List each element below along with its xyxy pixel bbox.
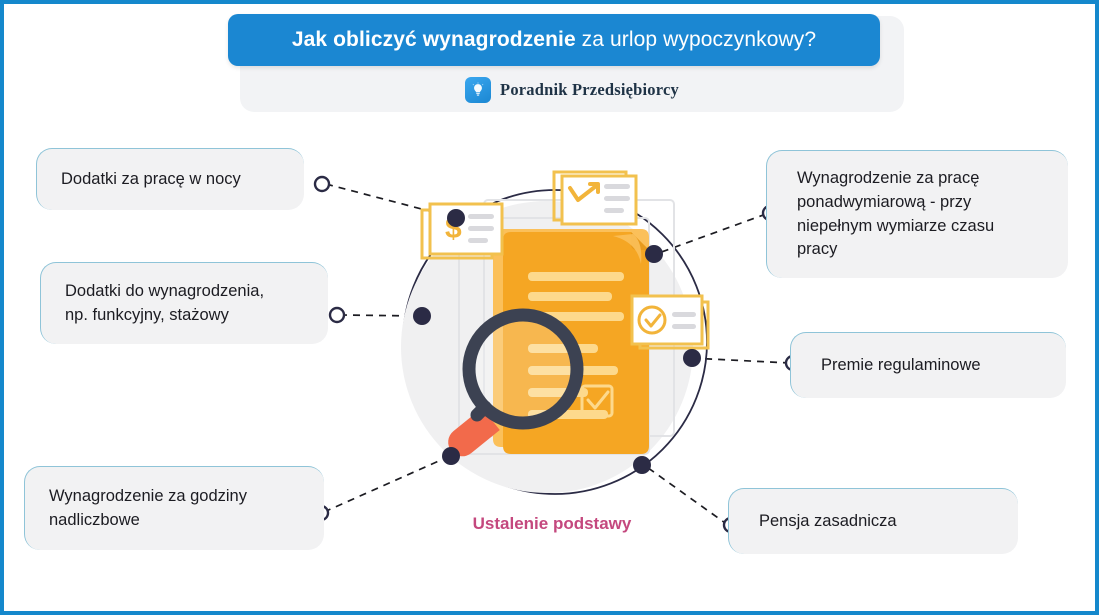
growth-card bbox=[554, 172, 636, 224]
center-caption: Ustalenie podstawy bbox=[402, 514, 702, 534]
connector-line-ponad bbox=[656, 214, 766, 254]
card-text-line: nadliczbowe bbox=[49, 509, 247, 533]
card-text-line: Dodatki do wynagrodzenia, bbox=[65, 280, 264, 304]
node-left bbox=[413, 307, 431, 325]
card-text: Premie regulaminowe bbox=[791, 354, 995, 378]
endpoint-noc bbox=[315, 177, 329, 191]
infographic-page: Jak obliczyć wynagrodzenie za urlop wypo… bbox=[0, 0, 1099, 615]
card-dodatki-do-wynagrodzenia[interactable]: Dodatki do wynagrodzenia, np. funkcyjny,… bbox=[40, 262, 328, 344]
card-text-line: Wynagrodzenie za godziny bbox=[49, 485, 247, 509]
card-godziny-nadliczbowe[interactable]: Wynagrodzenie za godziny nadliczbowe bbox=[24, 466, 324, 550]
connector-line-nadliczbowe bbox=[324, 456, 450, 512]
card-text: Wynagrodzenie za pracę ponadwymiarową - … bbox=[767, 167, 1008, 263]
card-text: Wynagrodzenie za godziny nadliczbowe bbox=[25, 485, 263, 533]
card-text-line: Wynagrodzenie za pracę bbox=[797, 167, 994, 191]
card-dodatki-za-prace-w-nocy[interactable]: Dodatki za pracę w nocy bbox=[36, 148, 304, 210]
node-top-right bbox=[645, 245, 663, 263]
card-text-line: pracy bbox=[797, 238, 994, 262]
node-top-left bbox=[447, 209, 465, 227]
endpoint-dodatki bbox=[330, 308, 344, 322]
node-right bbox=[683, 349, 701, 367]
card-text: Pensja zasadnicza bbox=[729, 510, 911, 534]
card-text: Dodatki za pracę w nocy bbox=[37, 168, 257, 192]
card-text-line: ponadwymiarową - przy bbox=[797, 191, 994, 215]
card-text-line: np. funkcyjny, stażowy bbox=[65, 304, 264, 328]
card-praca-ponadwymiarowa[interactable]: Wynagrodzenie za pracę ponadwymiarową - … bbox=[766, 150, 1068, 278]
node-bottom-left bbox=[442, 447, 460, 465]
card-text-line: niepełnym wymiarze czasu bbox=[797, 215, 994, 239]
card-text: Dodatki do wynagrodzenia, np. funkcyjny,… bbox=[41, 280, 280, 328]
card-pensja-zasadnicza[interactable]: Pensja zasadnicza bbox=[728, 488, 1018, 554]
check-card bbox=[632, 296, 708, 348]
node-bottom-right bbox=[633, 456, 651, 474]
card-premie-regulaminowe[interactable]: Premie regulaminowe bbox=[790, 332, 1066, 398]
